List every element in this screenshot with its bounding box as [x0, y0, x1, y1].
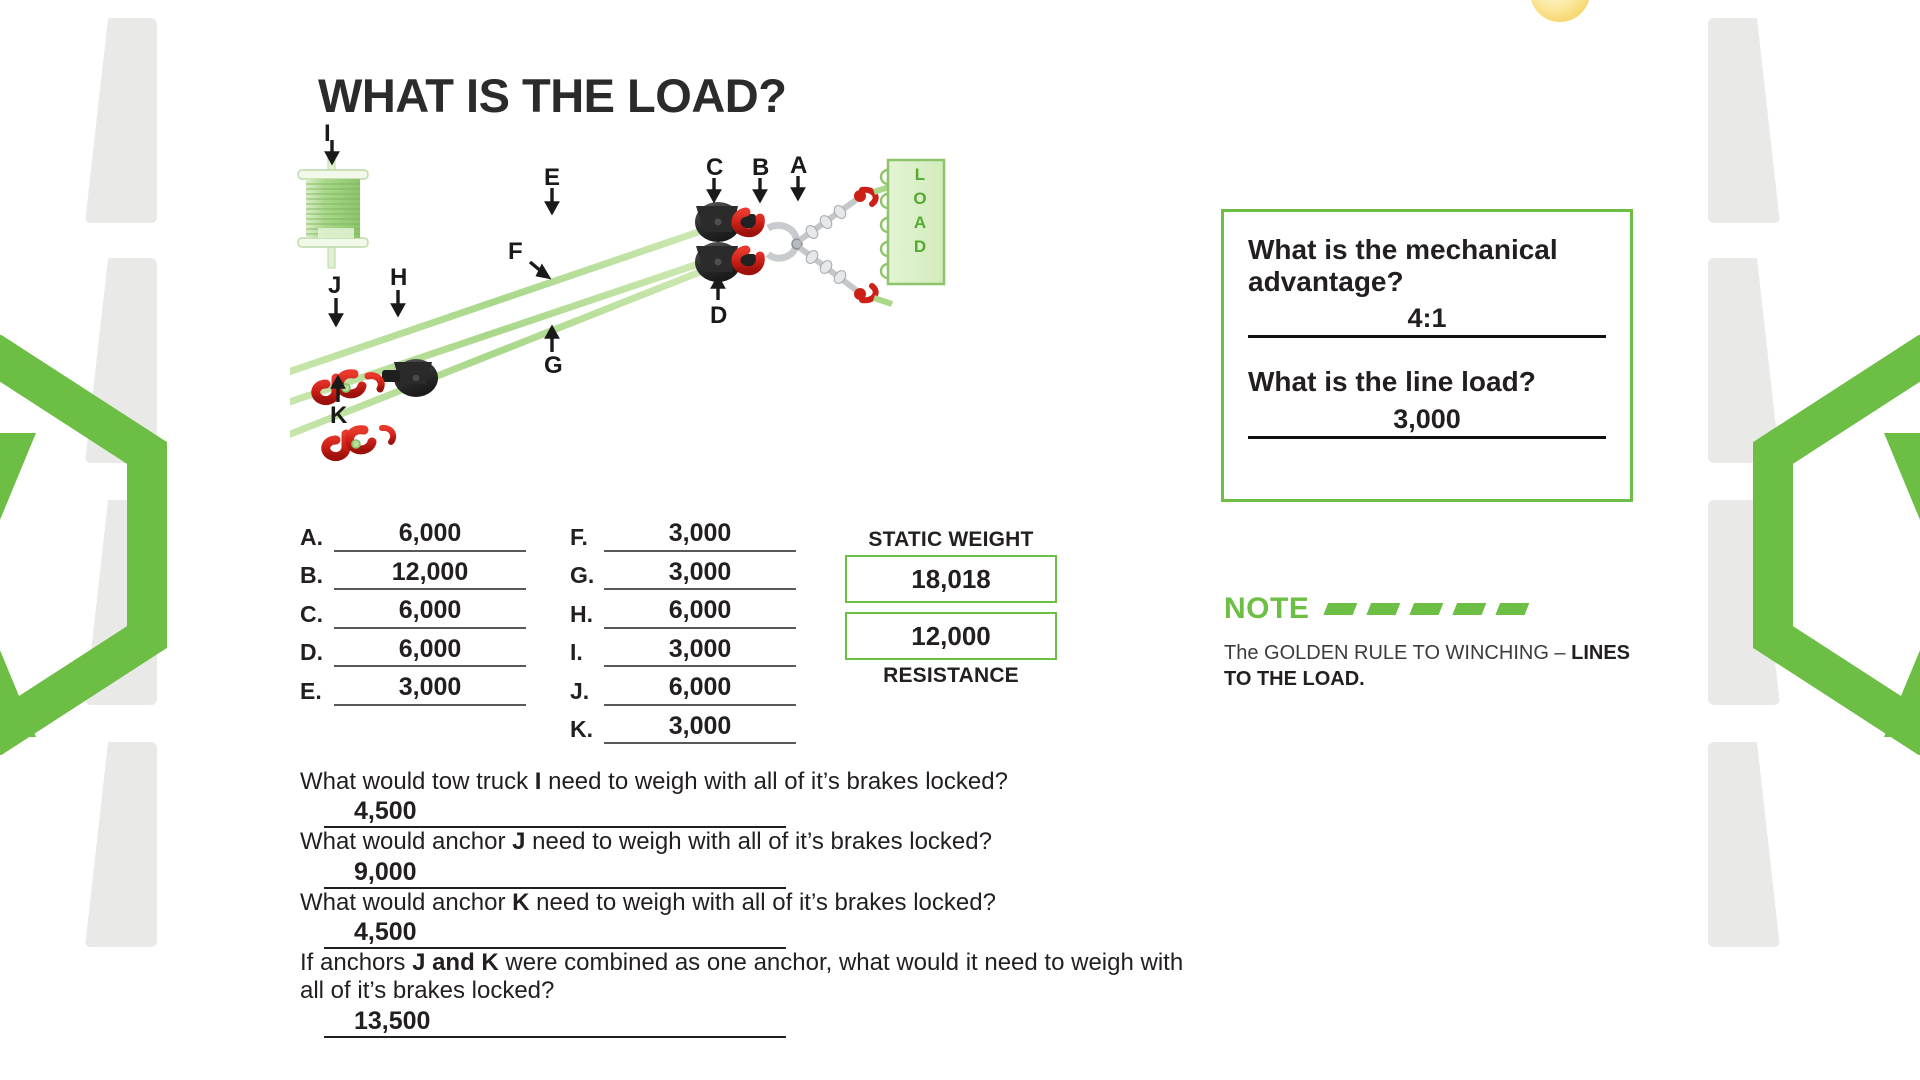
note-title: NOTE [1224, 592, 1309, 626]
diagram-label-g: G [544, 354, 563, 378]
answer-key: I. [570, 641, 604, 667]
question-text: What would tow truck I need to weigh wit… [300, 768, 1210, 796]
answer-value[interactable]: 3,000 [604, 713, 796, 745]
diagram-label-j: J [328, 274, 341, 298]
gray-accent-shape [1708, 742, 1780, 947]
chain-end-hooks [854, 190, 876, 301]
answer-key: A. [300, 526, 334, 552]
chain-bridle-icon [800, 200, 856, 290]
chain-links [804, 203, 848, 285]
gray-accent-shape [1708, 500, 1780, 705]
svg-text:A: A [914, 213, 926, 232]
answer-key: G. [570, 564, 604, 590]
diagram-label-k: K [330, 404, 347, 428]
answer-row[interactable]: E. 3,000 [300, 674, 526, 706]
question-text: If anchors J and K were combined as one … [300, 949, 1210, 1006]
rigging-diagram-svg: L O A D [290, 140, 1090, 500]
answer-value[interactable]: 3,000 [604, 636, 796, 668]
answer-value[interactable]: 6,000 [334, 597, 526, 629]
answer-value[interactable]: 6,000 [604, 674, 796, 706]
answer-value[interactable]: 3,000 [334, 674, 526, 706]
diagram-label-h: H [390, 266, 407, 290]
answer-key: F. [570, 526, 604, 552]
question-block: What would anchor K need to weigh with a… [300, 889, 1210, 949]
resistance-value[interactable]: 12,000 [845, 612, 1057, 660]
answer-value[interactable]: 6,000 [334, 636, 526, 668]
gray-accent-shape [85, 500, 157, 705]
sun-accent-circle [1530, 0, 1590, 22]
answer-row[interactable]: F. 3,000 [570, 520, 796, 552]
answer-row[interactable]: K. 3,000 [570, 713, 796, 745]
hexagon-logo-watermark-right [1698, 335, 1920, 755]
answer-key: B. [300, 564, 334, 590]
answer-row[interactable]: B. 12,000 [300, 559, 526, 591]
panel-answer-2[interactable]: 3,000 [1248, 404, 1606, 439]
panel-question-2: What is the line load? [1248, 366, 1606, 398]
hook-k-icon [326, 428, 393, 457]
question-text: What would anchor J need to weigh with a… [300, 828, 1210, 856]
answer-row[interactable]: D. 6,000 [300, 636, 526, 668]
gray-accent-shape [1708, 18, 1780, 223]
answer-value[interactable]: 3,000 [604, 520, 796, 552]
dash-mark [1495, 603, 1529, 615]
answer-column-left: A. 6,000 B. 12,000 C. 6,000 D. 6,000 E. … [300, 520, 526, 713]
answer-value[interactable]: 12,000 [334, 559, 526, 591]
answer-key: D. [300, 641, 334, 667]
answer-value[interactable]: 6,000 [334, 520, 526, 552]
questions-section: What would tow truck I need to weigh wit… [300, 768, 1210, 1038]
rigging-diagram: L O A D I E C B A [290, 140, 1090, 500]
panel-answer-1[interactable]: 4:1 [1248, 303, 1606, 338]
hexagon-logo-watermark-left [0, 335, 222, 755]
answer-value[interactable]: 3,000 [604, 559, 796, 591]
svg-text:L: L [915, 165, 925, 184]
answer-key: C. [300, 603, 334, 629]
answer-key: H. [570, 603, 604, 629]
panel-question-1: What is the mechanical advantage? [1248, 234, 1606, 297]
dash-mark [1409, 603, 1443, 615]
dash-mark [1323, 603, 1357, 615]
answer-key: J. [570, 680, 604, 706]
dash-mark [1366, 603, 1400, 615]
answer-row[interactable]: I. 3,000 [570, 636, 796, 668]
rope-lines [290, 220, 710, 458]
answer-key: E. [300, 680, 334, 706]
question-block: If anchors J and K were combined as one … [300, 949, 1210, 1038]
diagram-label-e: E [544, 166, 560, 190]
load-block: L O A D [881, 160, 944, 284]
question-block: What would tow truck I need to weigh wit… [300, 768, 1210, 828]
answer-column-right: F. 3,000 G. 3,000 H. 6,000 I. 3,000 J. 6… [570, 520, 796, 751]
answer-row[interactable]: C. 6,000 [300, 597, 526, 629]
static-weight-value[interactable]: 18,018 [845, 555, 1057, 603]
question-block: What would anchor J need to weigh with a… [300, 828, 1210, 888]
panel-spacer [1248, 338, 1606, 366]
answer-row[interactable]: G. 3,000 [570, 559, 796, 591]
note-section: NOTE The GOLDEN RULE TO WINCHING – LINES… [1224, 592, 1644, 692]
answer-row[interactable]: A. 6,000 [300, 520, 526, 552]
question-answer[interactable]: 9,000 [324, 857, 786, 889]
diagram-label-d: D [710, 304, 727, 328]
note-header: NOTE [1224, 592, 1644, 626]
shackle-b-icon [768, 225, 802, 258]
svg-text:O: O [913, 189, 926, 208]
note-body: The GOLDEN RULE TO WINCHING – LINES TO T… [1224, 640, 1644, 692]
question-text: What would anchor K need to weigh with a… [300, 889, 1210, 917]
diagram-label-c: C [706, 156, 723, 180]
winch-drum-icon [298, 158, 368, 268]
question-answer[interactable]: 4,500 [324, 917, 786, 949]
mechanical-advantage-panel: What is the mechanical advantage? 4:1 Wh… [1221, 209, 1633, 502]
resistance-caption: RESISTANCE [845, 664, 1057, 688]
answer-key: K. [570, 718, 604, 744]
diagram-label-f: F [508, 240, 523, 264]
gray-accent-shape [85, 258, 157, 463]
answer-row[interactable]: J. 6,000 [570, 674, 796, 706]
answer-row[interactable]: H. 6,000 [570, 597, 796, 629]
page-title: WHAT IS THE LOAD? [318, 68, 786, 123]
svg-text:D: D [914, 237, 926, 256]
gray-accent-shape [85, 18, 157, 223]
diagram-label-i: I [324, 122, 331, 146]
question-answer[interactable]: 13,500 [324, 1006, 786, 1038]
static-weight-panel: STATIC WEIGHT 18,018 12,000 RESISTANCE [845, 528, 1057, 688]
diagram-label-b: B [752, 156, 769, 180]
diagram-label-a: A [790, 154, 807, 178]
hook-j-icon [316, 374, 382, 401]
slide-canvas: WHAT IS THE LOAD? [0, 0, 1920, 1080]
note-dashes [1323, 603, 1529, 615]
gray-accent-shape [1708, 258, 1780, 463]
dash-mark [1452, 603, 1486, 615]
question-answer[interactable]: 4,500 [324, 796, 786, 828]
static-weight-caption: STATIC WEIGHT [845, 528, 1057, 552]
gray-accent-shape [85, 742, 157, 947]
answer-value[interactable]: 6,000 [604, 597, 796, 629]
